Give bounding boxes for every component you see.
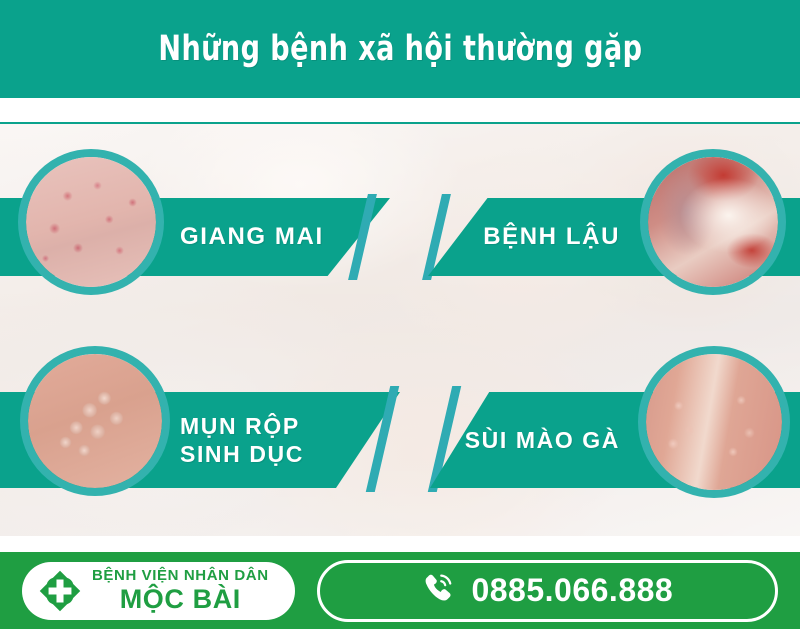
syphilis-rash-image bbox=[26, 157, 156, 287]
disease-label: MỤN RỘP SINH DỤC bbox=[180, 412, 304, 468]
hospital-brand-text: BỆNH VIỆN NHÂN DÂN MỘC BÀI bbox=[92, 568, 269, 613]
infographic-poster: Những bệnh xã hội thường gặp GIANG MAI B… bbox=[0, 0, 800, 629]
gonorrhea-discharge-image bbox=[648, 157, 778, 287]
phone-cta[interactable]: 0885.066.888 bbox=[317, 560, 778, 622]
medical-cross-flower-icon bbox=[38, 569, 82, 613]
disease-label: SÙI MÀO GÀ bbox=[465, 426, 620, 454]
main-stage: GIANG MAI BỆNH LẬU MỤN RỘP SINH DỤC SÙI … bbox=[0, 122, 800, 536]
gonorrhea-discharge-photo bbox=[640, 149, 786, 295]
genital-warts-photo bbox=[638, 346, 790, 498]
genital-warts-image bbox=[646, 354, 782, 490]
syphilis-rash-photo bbox=[18, 149, 164, 295]
phone-call-icon bbox=[421, 570, 457, 611]
disease-label: BỆNH LẬU bbox=[483, 222, 620, 251]
genital-herpes-image bbox=[28, 354, 162, 488]
phone-number: 0885.066.888 bbox=[471, 572, 673, 609]
disease-label: GIANG MAI bbox=[180, 222, 324, 251]
hospital-name-line2: MỘC BÀI bbox=[120, 586, 241, 613]
genital-herpes-photo bbox=[20, 346, 170, 496]
footer-bar: BỆNH VIỆN NHÂN DÂN MỘC BÀI 0885.066.888 bbox=[0, 552, 800, 629]
header-bar: Những bệnh xã hội thường gặp bbox=[0, 0, 800, 98]
page-title: Những bệnh xã hội thường gặp bbox=[158, 29, 642, 69]
hospital-brand[interactable]: BỆNH VIỆN NHÂN DÂN MỘC BÀI bbox=[22, 562, 295, 620]
hospital-name-line1: BỆNH VIỆN NHÂN DÂN bbox=[92, 568, 269, 583]
